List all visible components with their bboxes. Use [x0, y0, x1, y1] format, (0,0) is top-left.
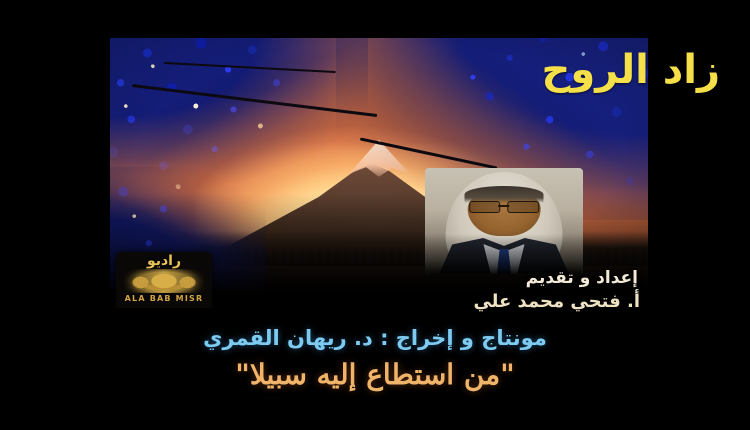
episode-quote: "من استطاع إليه سبيلا" [0, 358, 750, 391]
production-credit: مونتاج و إخراج : د. ريهان القمري [0, 326, 750, 350]
station-logo-badge: راديو ALA BAB MISR [116, 252, 212, 308]
photo-fade-overlay [425, 168, 583, 274]
program-title: زاد الروح [542, 50, 721, 90]
presenter-name: أ. فتحي محمد علي [473, 291, 640, 312]
presenter-role-label: إعداد و تقديم [526, 268, 638, 288]
station-logo-bottom-label: ALA BAB MISR [116, 294, 212, 303]
video-thumbnail: زاد الروح راديو ALA BAB MISR إعداد و تقد… [0, 0, 750, 430]
ala-bab-misr-emblem-icon [122, 269, 206, 293]
station-logo-top-label: راديو [116, 254, 212, 268]
presenter-photo [425, 168, 583, 274]
